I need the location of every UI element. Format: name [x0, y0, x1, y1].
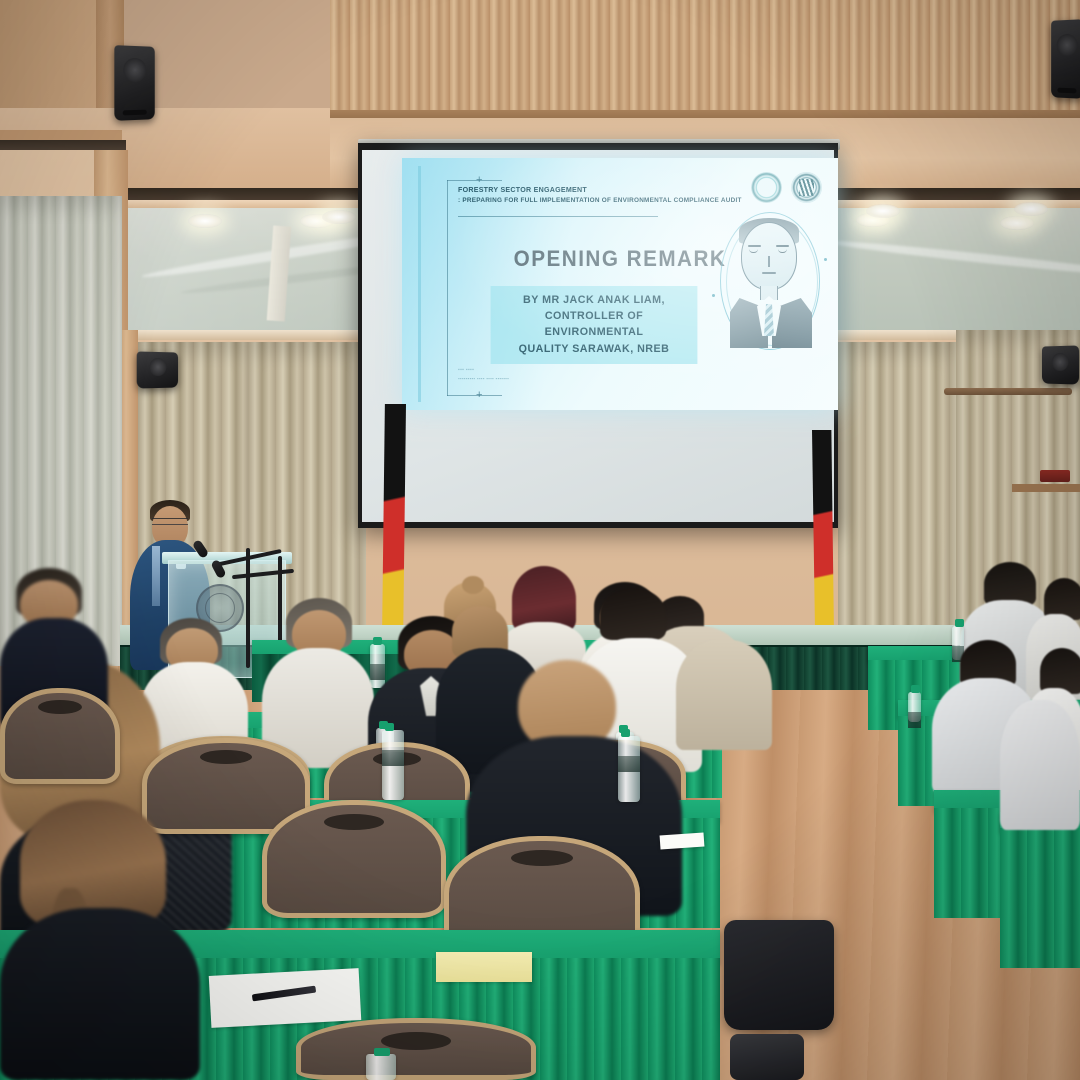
water-bottle	[370, 644, 385, 688]
sarawak-flag-left	[382, 404, 406, 640]
slide-footer-line1: ▪▪▪ ▪▪▪▪	[458, 366, 509, 375]
shirt-placket	[152, 546, 160, 606]
slide-subtitle-line3: QUALITY SARAWAK, NREB	[496, 341, 692, 357]
shoe	[730, 1034, 804, 1080]
portrait-hair	[739, 218, 799, 244]
portrait-tie	[764, 304, 774, 336]
water-bottle	[366, 1054, 396, 1080]
curtain-right	[838, 342, 958, 642]
crosshair-icon: +	[476, 175, 482, 186]
reflection-pillar	[267, 225, 292, 321]
sarawak-agency-logo	[791, 172, 822, 203]
soffit-edge-left	[0, 130, 122, 140]
downlight-icon	[322, 210, 356, 224]
slide-title: OPENING REMARK	[419, 246, 820, 272]
water-bottle	[908, 692, 921, 722]
portrait-suit-left	[730, 298, 768, 348]
conference-hall-photo: + + FORESTRY SECTOR ENGAGEMENT : PREPARI…	[0, 0, 1080, 1080]
backpack	[724, 920, 834, 1030]
water-bottle	[618, 736, 640, 802]
wooden-slat-ceiling	[330, 0, 1080, 120]
downlight-icon	[188, 214, 222, 228]
crosshair-icon: +	[476, 390, 482, 401]
slide-frame-top	[447, 180, 502, 181]
slide-footer-line2: ▪▪▪▪▪▪▪▪▪ ▪▪▪▪ ▪▪▪▪ ▪▪▪▪▪▪▪	[458, 375, 509, 383]
downlight-icon	[866, 204, 900, 218]
nreb-logo	[751, 172, 782, 203]
wall-shelf-right	[1012, 484, 1080, 492]
water-bottle	[382, 730, 404, 800]
slide-header-line2: : PREPARING FOR FULL IMPLEMENTATION OF E…	[458, 196, 718, 206]
slide-subtitle-line1: BY MR JACK ANAK LIAM,	[496, 292, 692, 308]
wall-speaker-right	[1051, 19, 1080, 99]
downlight-icon	[1014, 202, 1048, 216]
microphone-stand-1	[246, 548, 250, 668]
slide-footer: ▪▪▪ ▪▪▪▪ ▪▪▪▪▪▪▪▪▪ ▪▪▪▪ ▪▪▪▪ ▪▪▪▪▪▪▪	[458, 366, 509, 383]
wall-speaker-left-lower	[137, 351, 178, 388]
wall-speaker-left	[114, 45, 154, 121]
yellow-note-card	[436, 952, 532, 982]
hair-bun	[462, 576, 484, 594]
speaker-portrait-illustration	[724, 216, 816, 348]
slide-left-accent	[418, 166, 421, 402]
sarawak-flag-right	[812, 430, 834, 636]
chair	[296, 1018, 536, 1080]
presentation-slide: + + FORESTRY SECTOR ENGAGEMENT : PREPARI…	[402, 158, 838, 410]
portrait-face	[741, 222, 797, 290]
chair	[262, 800, 446, 918]
portrait-shirt	[757, 296, 781, 336]
slide-header-rule	[458, 216, 658, 217]
slide-subtitle-line2: CONTROLLER OF ENVIRONMENTAL	[496, 308, 692, 340]
exit-sign	[1040, 470, 1070, 482]
reflection-curve	[820, 237, 1080, 280]
wall-speaker-right-lower	[1042, 345, 1079, 384]
downlight-icon	[1000, 216, 1034, 230]
slide-subtitle-block: BY MR JACK ANAK LIAM, CONTROLLER OF ENVI…	[491, 286, 698, 364]
slide-header: FORESTRY SECTOR ENGAGEMENT : PREPARING F…	[458, 185, 718, 206]
curtain-rod-right	[944, 388, 1072, 395]
chair	[0, 688, 120, 784]
slide-logos	[751, 172, 822, 203]
slide-header-line1: FORESTRY SECTOR ENGAGEMENT	[458, 185, 718, 196]
slide-frame-line	[447, 180, 448, 396]
glasses-icon	[152, 518, 188, 525]
slide-frame-bottom	[447, 395, 502, 396]
portrait-suit-right	[772, 298, 812, 348]
table-row-d-right-skirt	[1000, 828, 1080, 968]
